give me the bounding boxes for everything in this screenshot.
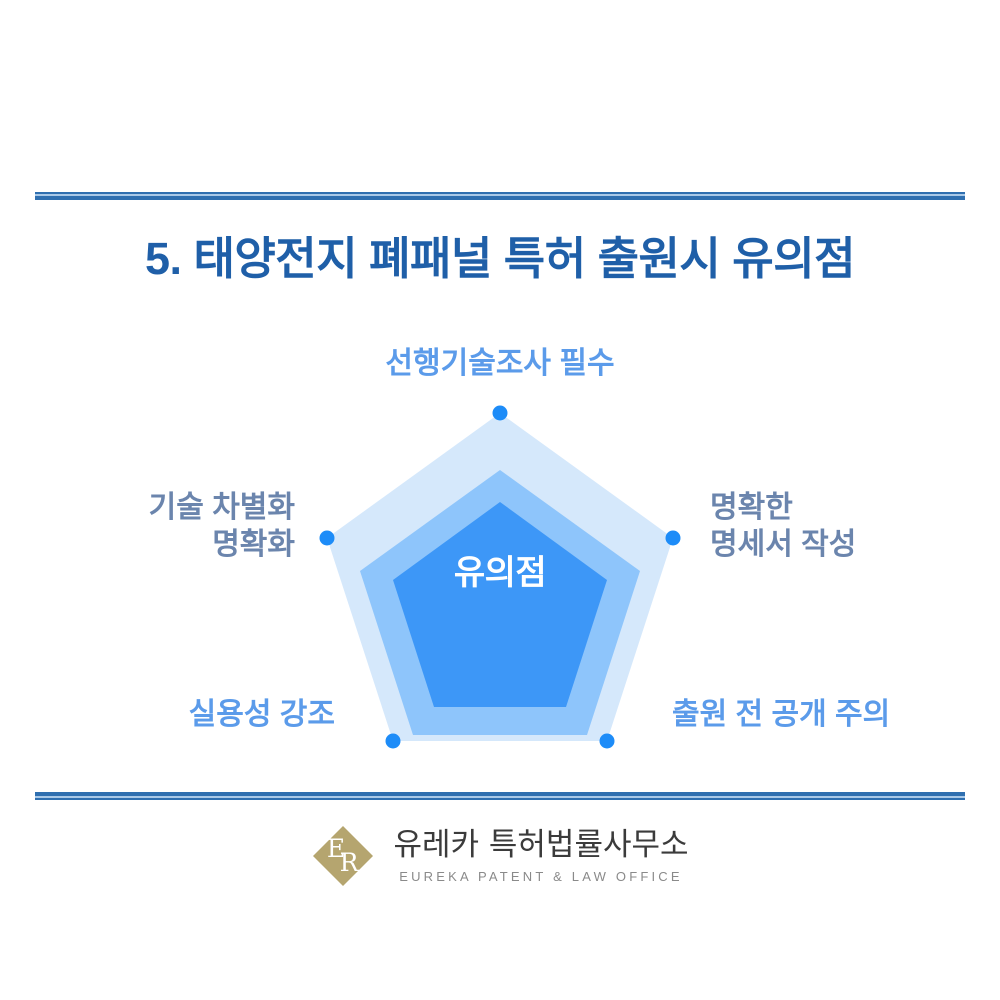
vertex-dot-top[interactable] bbox=[493, 406, 508, 421]
top-divider bbox=[35, 192, 965, 201]
node-label-bottom-left: 실용성 강조 bbox=[0, 697, 335, 734]
vertex-dot-left[interactable] bbox=[320, 531, 335, 546]
node-label-bottom-right: 출원 전 공개 주의 bbox=[672, 697, 890, 734]
vertex-dot-bottom-left[interactable] bbox=[386, 734, 401, 749]
node-label-top: 선행기술조사 필수 bbox=[0, 346, 1000, 383]
vertex-dot-right[interactable] bbox=[666, 531, 681, 546]
pentagon-diagram: 유의점 선행기술조사 필수 명확한 명세서 작성 기술 차별화 명확화 실용성 … bbox=[0, 320, 1000, 780]
pentagon-center-label: 유의점 bbox=[400, 545, 600, 594]
node-label-right-line2: 명세서 작성 bbox=[710, 527, 856, 564]
footer-logo: E R 유레카 특허법률사무소 EUREKA PATENT & LAW OFFI… bbox=[0, 824, 1000, 888]
divider-line-thick bbox=[35, 196, 965, 200]
bottom-divider bbox=[35, 792, 965, 801]
divider-line-thin bbox=[35, 798, 965, 800]
eureka-diamond-logo-icon: E R bbox=[311, 824, 375, 888]
node-label-right-line1: 명확한 bbox=[710, 490, 856, 527]
node-label-left-line1: 기술 차별화 bbox=[0, 490, 295, 527]
node-label-left-line2: 명확화 bbox=[0, 527, 295, 564]
monogram-letter-r: R bbox=[340, 848, 360, 877]
node-label-left: 기술 차별화 명확화 bbox=[0, 490, 295, 563]
diamond-monogram-icon: E R bbox=[311, 824, 375, 888]
page-title: 5. 태양전지 폐패널 특허 출원시 유의점 bbox=[0, 222, 1000, 287]
vertex-dot-bottom-right[interactable] bbox=[600, 734, 615, 749]
node-label-right: 명확한 명세서 작성 bbox=[710, 490, 856, 563]
firm-name-english: EUREKA PATENT & LAW OFFICE bbox=[399, 869, 683, 884]
firm-name-korean: 유레카 특허법률사무소 bbox=[393, 828, 688, 862]
logo-text-block: 유레카 특허법률사무소 EUREKA PATENT & LAW OFFICE bbox=[393, 828, 688, 883]
